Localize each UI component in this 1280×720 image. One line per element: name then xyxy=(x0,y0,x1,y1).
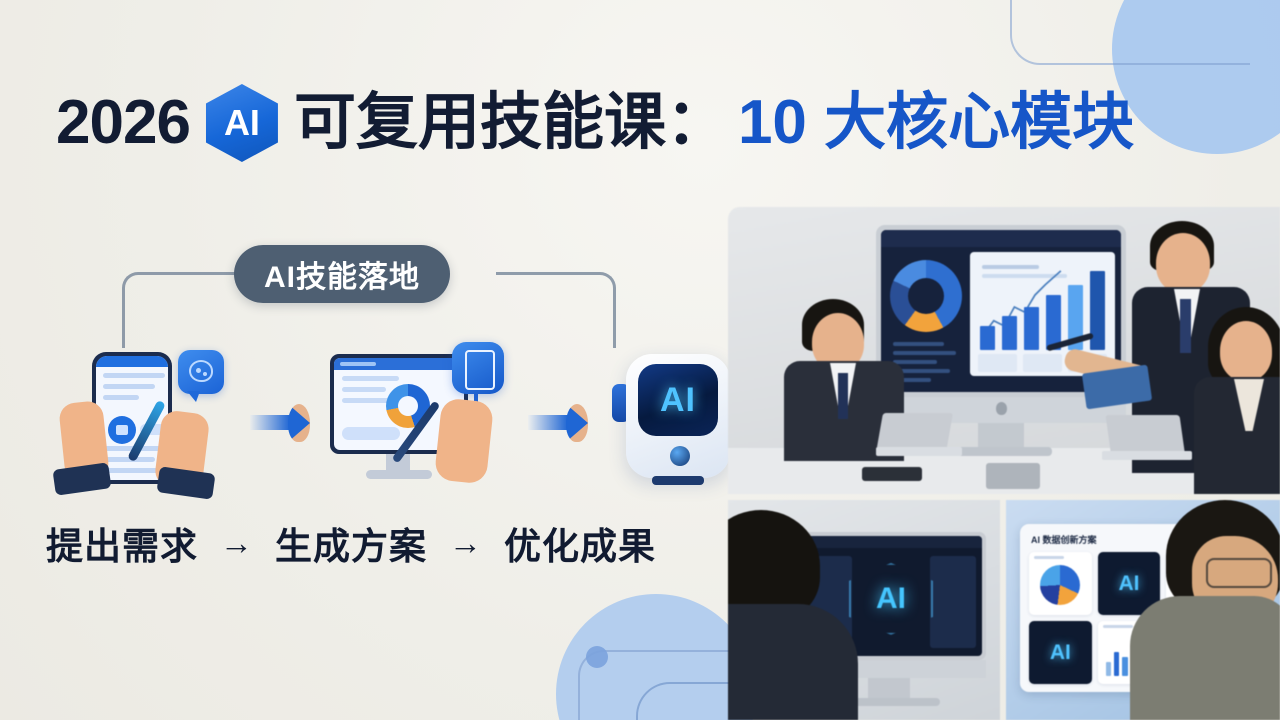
ai-badge-label: AI xyxy=(224,105,260,141)
suit-shoulders xyxy=(728,604,858,720)
robot-ai-label: AI xyxy=(660,381,696,420)
chat-glyph xyxy=(189,360,213,382)
placeholder-line xyxy=(103,384,155,389)
chat-bubble-icon xyxy=(178,350,224,394)
bracket-left xyxy=(122,272,246,348)
ai-tile-label: AI xyxy=(1118,572,1139,596)
robot-body: AI xyxy=(626,354,730,478)
right-sleeve-cuff xyxy=(156,466,215,500)
flow-arrow-2-icon xyxy=(528,402,590,442)
flow-separator-icon: → xyxy=(449,524,482,562)
phone-app-icon xyxy=(108,416,136,444)
robot-base xyxy=(652,476,704,485)
ai-hexagon-badge-icon: AI xyxy=(206,84,278,162)
imac-stand-neck xyxy=(978,423,1024,449)
pie-chart-tile xyxy=(1029,552,1092,615)
bracket-right xyxy=(496,272,616,348)
suit-torso xyxy=(1194,377,1280,494)
title-dark-text: 可复用技能课： xyxy=(294,92,728,154)
dashboard-right-panel xyxy=(930,556,976,648)
jacket xyxy=(1130,596,1280,720)
hologram-hex-outline xyxy=(849,563,933,635)
pointing-hand xyxy=(434,398,494,485)
robot-button-icon xyxy=(670,446,690,466)
phone-status-bar xyxy=(96,356,168,367)
page-title: 2026 AI 可复用技能课： 10 大核心模块 xyxy=(56,84,1134,162)
decor-dot-bottom xyxy=(586,646,608,668)
illustration-monitor-chart xyxy=(316,338,524,506)
flow-step-2-label: 生成方案 xyxy=(275,516,427,570)
dashboard-topbar xyxy=(881,230,1121,247)
laptop-left xyxy=(877,413,953,447)
tablet-icon xyxy=(452,342,504,394)
robot-face-screen: AI xyxy=(638,364,718,436)
bar xyxy=(1002,316,1017,350)
imac-stand-neck xyxy=(868,678,910,700)
bar xyxy=(1024,307,1039,350)
illustration-row: AI xyxy=(34,338,714,506)
pill-label: AI技能落地 xyxy=(264,252,420,296)
face xyxy=(1220,321,1272,381)
bar xyxy=(1106,662,1111,676)
eyeglasses-icon xyxy=(1206,558,1272,588)
face xyxy=(1156,233,1210,293)
illustration-phone-stylus xyxy=(46,338,246,506)
flow-separator-icon: → xyxy=(220,524,253,562)
bar xyxy=(1122,657,1127,676)
flow-step-3-label: 优化成果 xyxy=(504,516,656,570)
placeholder-line xyxy=(103,373,165,378)
placeholder-line xyxy=(342,376,399,381)
business-meeting-photo xyxy=(728,207,1280,494)
ai-tile-label: AI xyxy=(1050,641,1071,665)
monitor-base xyxy=(366,470,432,479)
notebook xyxy=(862,467,922,481)
card xyxy=(978,354,1017,372)
status-badge: AI技能落地 xyxy=(234,245,450,303)
arrow-shaft xyxy=(250,415,290,430)
card xyxy=(1023,354,1062,372)
bar xyxy=(980,326,995,350)
monitor-titlebar xyxy=(334,358,464,370)
person-woman-right xyxy=(1194,307,1280,494)
tile-caption xyxy=(1034,556,1064,559)
left-sleeve-cuff xyxy=(52,462,111,496)
monitor-button xyxy=(342,427,400,440)
flow-labels: 提出需求 → 生成方案 → 优化成果 xyxy=(46,516,656,570)
title-blue-text: 10 大核心模块 xyxy=(738,92,1134,154)
laptop-left-base xyxy=(876,447,962,456)
decor-line-top-right xyxy=(1010,0,1250,65)
necktie xyxy=(1180,299,1191,353)
person-viewer xyxy=(1138,500,1280,720)
man-viewing-ai-dashboard-photo: AI xyxy=(728,500,1000,720)
flow-step-1-label: 提出需求 xyxy=(46,516,198,570)
bar xyxy=(1114,652,1119,676)
arrow-shaft xyxy=(528,415,568,430)
slide-canvas: 2026 AI 可复用技能课： 10 大核心模块 AI技能落地 xyxy=(0,0,1280,720)
placeholder-line xyxy=(103,395,139,400)
ai-hologram-icon: AI xyxy=(849,563,933,635)
flow-arrow-1-icon xyxy=(250,402,312,442)
placeholder-line xyxy=(342,387,386,392)
arrow-head xyxy=(566,404,588,442)
laptop-right-base xyxy=(1102,451,1192,460)
imac-stand-base xyxy=(952,447,1052,456)
laptop-right xyxy=(1105,415,1184,451)
desk-accessory xyxy=(986,463,1040,489)
apple-logo-icon xyxy=(996,402,1007,415)
presentation-board-photo: AI 数据创新方案 AI AI xyxy=(1006,500,1280,720)
tile-caption xyxy=(1103,625,1133,628)
pie-chart-icon xyxy=(1040,565,1080,605)
arrow-head xyxy=(288,404,310,442)
dashboard-topbar xyxy=(800,536,982,548)
necktie xyxy=(838,373,848,419)
ai-tile-secondary: AI xyxy=(1029,621,1092,684)
title-year: 2026 xyxy=(56,92,190,154)
